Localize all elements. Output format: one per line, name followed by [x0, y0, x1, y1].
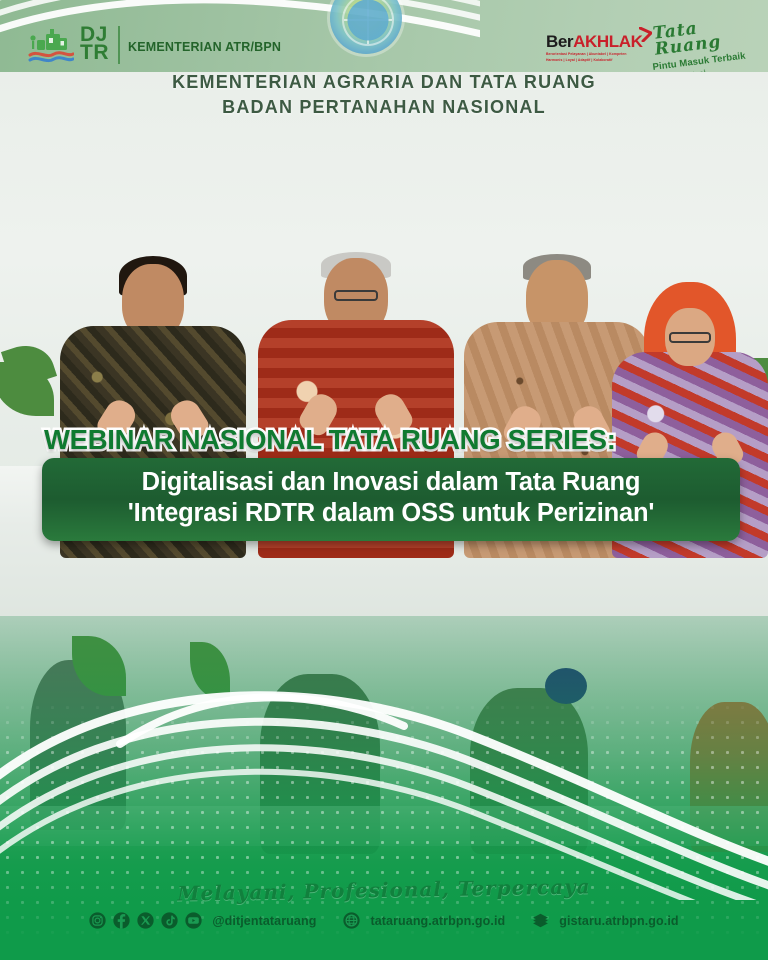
berakhlak-akhlak: AKHLAK [573, 32, 642, 51]
social-handle[interactable]: @ditjentataruang [212, 914, 316, 928]
berakhlak-logo: BerAKHLAK Berorientasi Pelayanan | Akunt… [546, 33, 646, 62]
djtr-house-logo [28, 28, 74, 64]
berakhlak-wordmark: BerAKHLAK [546, 33, 646, 51]
title-green-box: Digitalisasi dan Inovasi dalam Tata Ruan… [42, 458, 740, 541]
footer-tagline: Melayani, Profesional, Terpercaya [0, 871, 768, 908]
djtr-initials: DJ TR [80, 26, 109, 62]
x-twitter-icon[interactable] [137, 912, 154, 929]
berakhlak-ber: Ber [546, 32, 573, 51]
title-line3: 'Integrasi RDTR dalam OSS untuk Perizina… [56, 498, 726, 529]
portal-url[interactable]: gistaru.atrbpn.go.id [559, 914, 678, 928]
title-block: WEBINAR NASIONAL TATA RUANG SERIES: Digi… [0, 424, 768, 541]
layers-icon[interactable] [532, 912, 549, 929]
footer: Melayani, Profesional, Terpercaya [0, 874, 768, 960]
berakhlak-sub-line2: Harmonis | Loyal | Adaptif | Kolaboratif [546, 58, 646, 63]
berakhlak-arrow-icon [639, 27, 652, 42]
globe-icon[interactable] [343, 912, 360, 929]
social-row: @ditjentataruang tataruang.atrbpn.go.id … [0, 912, 768, 929]
person-4-glasses [669, 332, 711, 343]
wall-signage: KEMENTERIAN AGRARIA DAN TATA RUANG BADAN… [0, 72, 768, 118]
logo-divider [118, 26, 120, 64]
berakhlak-sub-line1: Berorientasi Pelayanan | Akuntabel | Kom… [546, 52, 646, 57]
djtr-initials-line2: TR [80, 44, 109, 62]
webinar-poster: KEMENTERIAN AGRARIA DAN TATA RUANG BADAN… [0, 0, 768, 960]
wall-signage-line1: KEMENTERIAN AGRARIA DAN TATA RUANG [0, 72, 768, 93]
website-url[interactable]: tataruang.atrbpn.go.id [370, 914, 505, 928]
facebook-icon[interactable] [113, 912, 130, 929]
person-2-glasses [334, 290, 378, 301]
ministry-label: KEMENTERIAN ATR/BPN [128, 40, 281, 54]
tiktok-icon[interactable] [161, 912, 178, 929]
youtube-icon[interactable] [185, 912, 202, 929]
header-band: DJ TR KEMENTERIAN ATR/BPN BerAKHLAK Bero… [0, 0, 768, 72]
instagram-icon[interactable] [89, 912, 106, 929]
wall-signage-line2: BADAN PERTANAHAN NASIONAL [0, 97, 768, 118]
tataruang-logo: Tata Ruang Pintu Masuk Terbaik Bagi Inve… [652, 26, 756, 72]
title-line1: WEBINAR NASIONAL TATA RUANG SERIES: [0, 424, 768, 456]
title-line2: Digitalisasi dan Inovasi dalam Tata Ruan… [56, 467, 726, 498]
